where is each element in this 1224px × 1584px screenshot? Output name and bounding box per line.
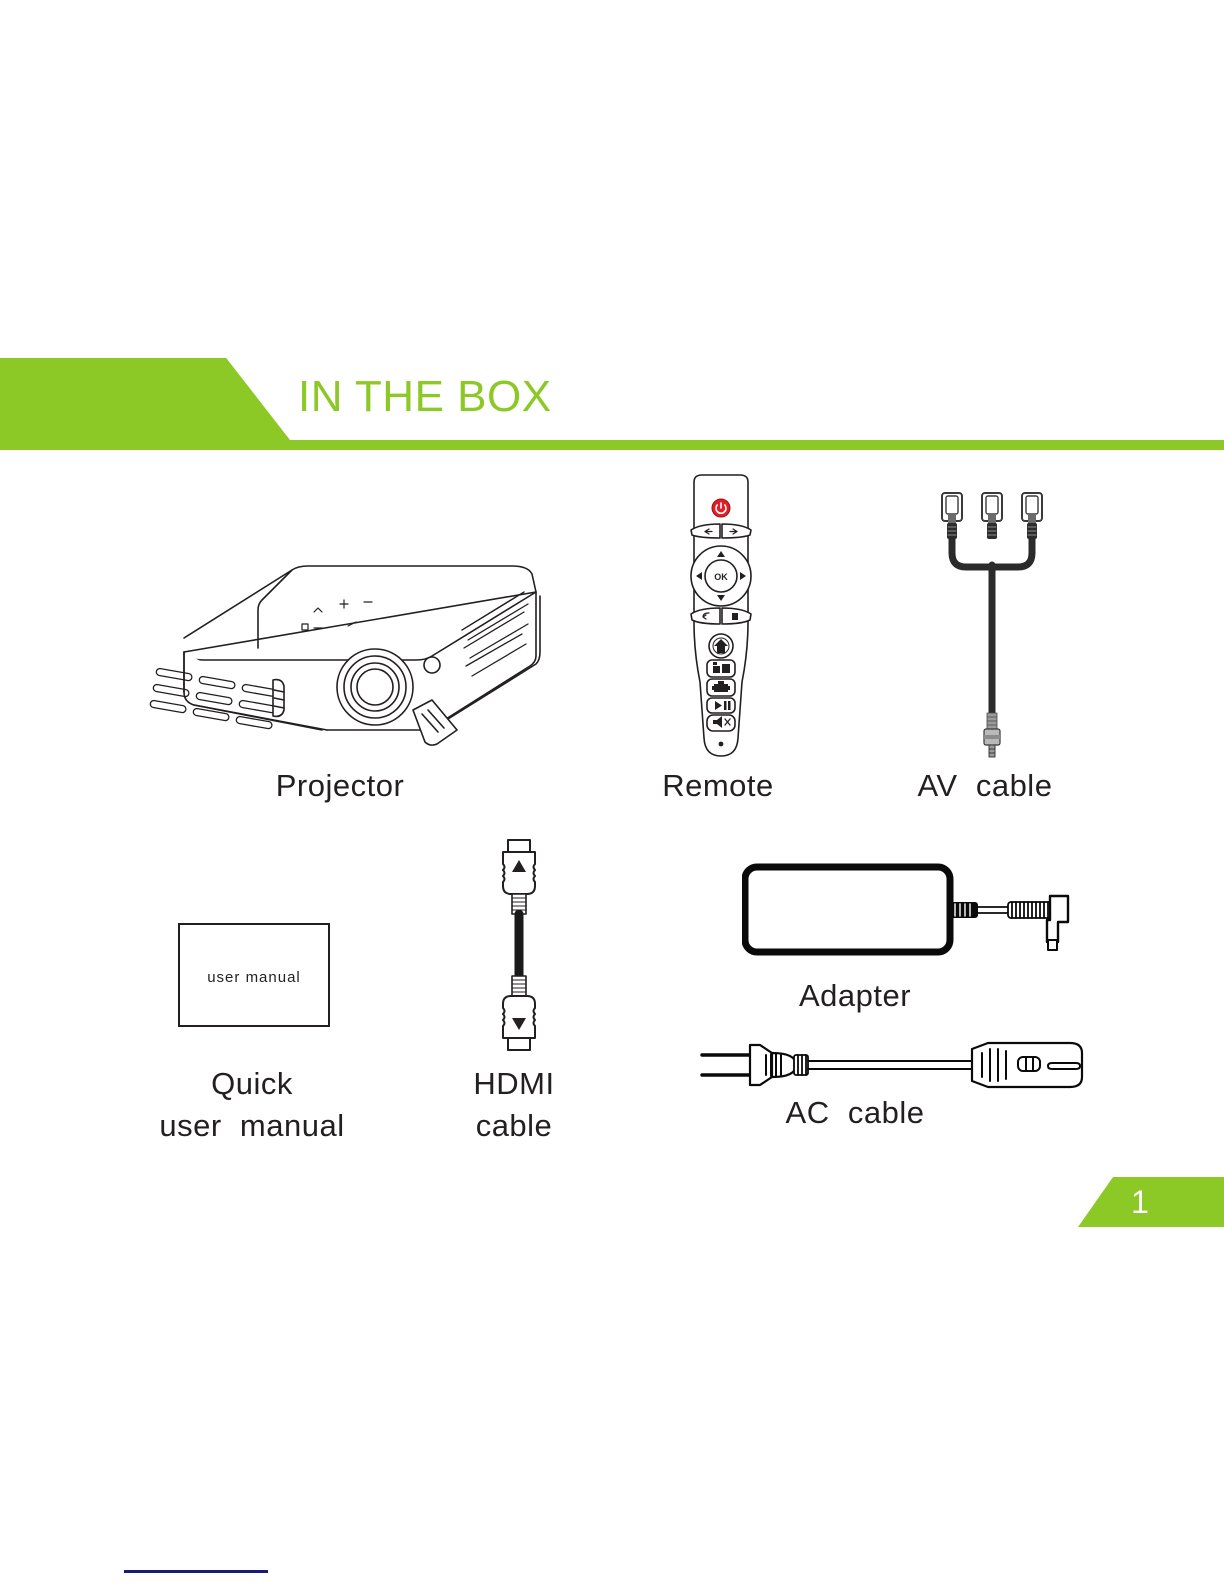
header-accent-shape: [0, 358, 290, 440]
header-divider-rule: [0, 440, 1224, 450]
user-manual-cover-text: user manual: [180, 969, 328, 986]
label-projector: Projector: [138, 765, 542, 807]
footer-rule: [124, 1570, 268, 1573]
power-adapter-illustration: [742, 862, 1072, 967]
label-adapter: Adapter: [700, 975, 1010, 1017]
page-number-badge: 1: [1078, 1177, 1224, 1227]
av-cable-illustration: [930, 485, 1056, 765]
page-title: IN THE BOX: [298, 366, 552, 428]
label-remote: Remote: [596, 765, 840, 807]
label-quick-user-manual: Quick user manual: [68, 1063, 436, 1147]
hdmi-cable-illustration: [487, 838, 551, 1058]
label-ac-cable: AC cable: [700, 1092, 1010, 1134]
label-av-cable: AV cable: [860, 765, 1110, 807]
label-hdmi-cable: HDMI cable: [404, 1063, 624, 1147]
remote-control-illustration: OK: [662, 472, 780, 765]
projector-illustration: [132, 552, 542, 757]
remote-ok-label: OK: [714, 572, 728, 582]
user-manual-illustration: user manual: [178, 923, 330, 1027]
user-manual-cover: user manual: [178, 923, 330, 1027]
page-number: 1: [1078, 1181, 1202, 1223]
ac-power-cable-illustration: [700, 1035, 1090, 1100]
page-header: IN THE BOX: [0, 358, 1224, 450]
